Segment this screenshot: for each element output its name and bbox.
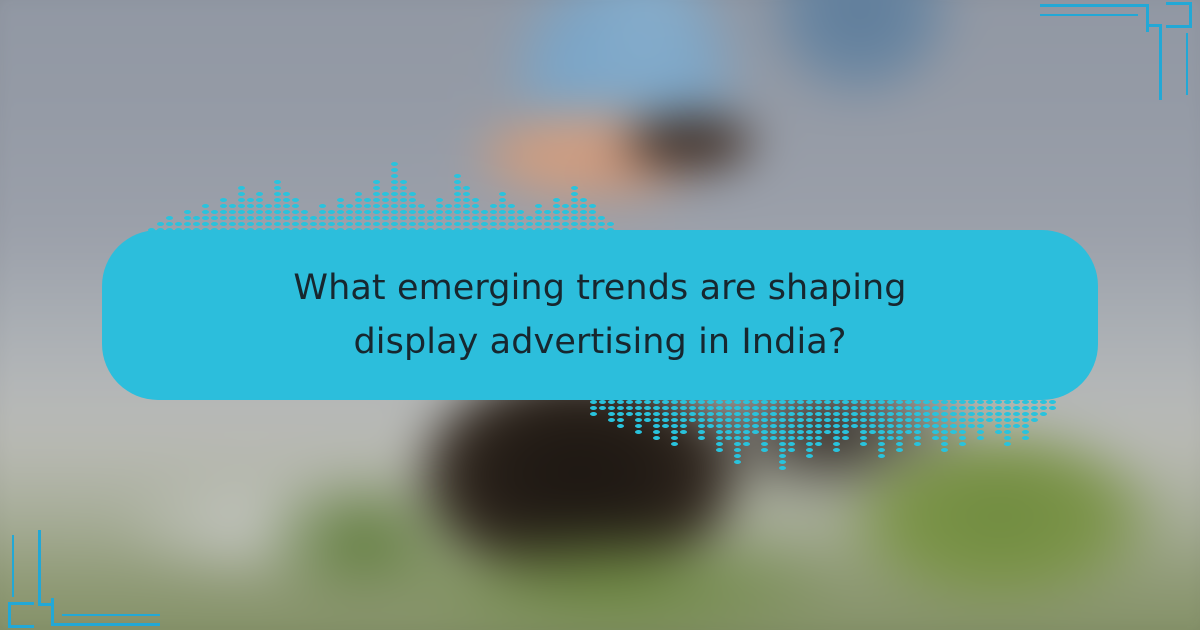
waveform-dot: [463, 210, 470, 214]
waveform-dot: [986, 400, 993, 404]
waveform-dot: [815, 406, 822, 410]
question-bubble: What emerging trends are shaping display…: [102, 230, 1098, 400]
waveform-dot: [815, 430, 822, 434]
waveform-dot: [779, 460, 786, 464]
waveform-dot: [1031, 418, 1038, 422]
waveform-dot: [355, 192, 362, 196]
waveform-dot: [851, 412, 858, 416]
waveform-dot: [986, 406, 993, 410]
waveform-dot: [445, 210, 452, 214]
waveform-dot: [238, 192, 245, 196]
waveform-dot: [833, 448, 840, 452]
corner-line-v-thin: [12, 535, 14, 597]
waveform-dot: [292, 210, 299, 214]
waveform-dot: [779, 400, 786, 404]
waveform-dot: [391, 180, 398, 184]
waveform-dot: [544, 222, 551, 226]
waveform-dot: [797, 430, 804, 434]
waveform-dot: [211, 222, 218, 226]
waveform-dot: [959, 418, 966, 422]
waveform-dot: [517, 216, 524, 220]
waveform-dot: [238, 198, 245, 202]
waveform-dot: [418, 216, 425, 220]
waveform-dot: [256, 210, 263, 214]
waveform-dot: [761, 430, 768, 434]
waveform-dot: [472, 222, 479, 226]
waveform-dot: [274, 216, 281, 220]
waveform-dot: [671, 424, 678, 428]
waveform-dot: [562, 210, 569, 214]
waveform-dot: [508, 204, 515, 208]
waveform-dot: [644, 412, 651, 416]
waveform-dot: [490, 216, 497, 220]
waveform-dot: [788, 400, 795, 404]
waveform-dot: [310, 222, 317, 226]
waveform-dot: [950, 418, 957, 422]
waveform-dot: [274, 198, 281, 202]
waveform-dot: [391, 192, 398, 196]
waveform-dot: [959, 412, 966, 416]
waveform-dot: [337, 222, 344, 226]
waveform-dot: [671, 430, 678, 434]
background-grass-bottom: [340, 500, 900, 630]
waveform-dot: [905, 418, 912, 422]
waveform-dot: [968, 424, 975, 428]
waveform-dot: [896, 406, 903, 410]
waveform-dot: [716, 400, 723, 404]
waveform-dot: [941, 412, 948, 416]
waveform-dot: [662, 412, 669, 416]
corner-square-top: [8, 602, 34, 605]
waveform-dot: [445, 204, 452, 208]
waveform-dot: [571, 186, 578, 190]
waveform-dot: [977, 406, 984, 410]
waveform-dot: [716, 418, 723, 422]
waveform-dot: [436, 210, 443, 214]
waveform-dot: [770, 436, 777, 440]
waveform-dot: [229, 222, 236, 226]
corner-line-h-outer: [1040, 4, 1146, 7]
waveform-dot: [860, 418, 867, 422]
waveform-dot: [788, 430, 795, 434]
waveform-dot: [553, 198, 560, 202]
waveform-dot: [761, 424, 768, 428]
waveform-dot: [653, 430, 660, 434]
waveform-dot: [391, 210, 398, 214]
waveform-dot: [1022, 412, 1029, 416]
waveform-dot: [436, 222, 443, 226]
waveform-dot: [941, 436, 948, 440]
waveform-dot: [355, 222, 362, 226]
waveform-dot: [698, 406, 705, 410]
background-jeans-shape: [760, 0, 1010, 130]
waveform-dot: [409, 210, 416, 214]
waveform-dot: [725, 424, 732, 428]
waveform-dot: [274, 186, 281, 190]
waveform-dot: [193, 222, 200, 226]
waveform-dot: [571, 216, 578, 220]
waveform-dot: [842, 418, 849, 422]
waveform-dot: [725, 412, 732, 416]
waveform-dot: [589, 222, 596, 226]
waveform-dot: [337, 216, 344, 220]
waveform-dot: [698, 436, 705, 440]
waveform-dot: [463, 216, 470, 220]
question-text: What emerging trends are shaping display…: [230, 261, 970, 370]
waveform-dot: [580, 204, 587, 208]
waveform-dot: [373, 222, 380, 226]
waveform-top: [148, 160, 618, 232]
waveform-dot: [716, 436, 723, 440]
waveform-dot: [409, 216, 416, 220]
waveform-dot: [662, 400, 669, 404]
waveform-dot: [463, 186, 470, 190]
waveform-dot: [373, 180, 380, 184]
waveform-dot: [896, 418, 903, 422]
waveform-dot: [635, 400, 642, 404]
waveform-dot: [806, 436, 813, 440]
waveform-dot: [382, 222, 389, 226]
waveform-dot: [499, 192, 506, 196]
waveform-dot: [698, 430, 705, 434]
waveform-dot: [617, 418, 624, 422]
waveform-dot: [571, 192, 578, 196]
waveform-dot: [184, 216, 191, 220]
waveform-dot: [725, 436, 732, 440]
waveform-dot: [283, 216, 290, 220]
waveform-dot: [806, 406, 813, 410]
waveform-dot: [544, 216, 551, 220]
waveform-dot: [544, 210, 551, 214]
waveform-dot: [833, 436, 840, 440]
waveform-dot: [635, 406, 642, 410]
waveform-dot: [400, 198, 407, 202]
waveform-dot: [770, 400, 777, 404]
waveform-dot: [968, 400, 975, 404]
waveform-dot: [1031, 412, 1038, 416]
waveform-dot: [878, 412, 885, 416]
waveform-dot: [256, 222, 263, 226]
waveform-dot: [608, 406, 615, 410]
waveform-dot: [391, 186, 398, 190]
waveform-dot: [562, 204, 569, 208]
waveform-dot: [644, 400, 651, 404]
waveform-dot: [391, 174, 398, 178]
waveform-dot: [770, 406, 777, 410]
waveform-dot: [923, 406, 930, 410]
waveform-dot: [860, 424, 867, 428]
waveform-dot: [283, 204, 290, 208]
waveform-dot: [977, 436, 984, 440]
waveform-dot: [310, 216, 317, 220]
waveform-dot: [959, 406, 966, 410]
waveform-dot: [472, 198, 479, 202]
waveform-dot: [878, 424, 885, 428]
waveform-dot: [653, 418, 660, 422]
waveform-dot: [1013, 400, 1020, 404]
waveform-dot: [256, 198, 263, 202]
waveform-dot: [418, 210, 425, 214]
waveform-dot: [878, 400, 885, 404]
waveform-dot: [373, 198, 380, 202]
waveform-dot: [887, 436, 894, 440]
waveform-dot: [878, 406, 885, 410]
waveform-dot: [617, 400, 624, 404]
waveform-dot: [779, 448, 786, 452]
waveform-dot: [626, 406, 633, 410]
waveform-dot: [184, 222, 191, 226]
waveform-dot: [580, 198, 587, 202]
waveform-dot: [932, 424, 939, 428]
waveform-dot: [788, 406, 795, 410]
corner-line-v-outer: [1146, 4, 1149, 32]
waveform-dot: [571, 198, 578, 202]
waveform-dot: [1013, 424, 1020, 428]
waveform-dot: [193, 216, 200, 220]
waveform-dot: [779, 430, 786, 434]
waveform-dot: [752, 406, 759, 410]
waveform-dot: [797, 406, 804, 410]
waveform-dot: [761, 442, 768, 446]
waveform-dot: [653, 412, 660, 416]
waveform-dot: [1049, 400, 1056, 404]
waveform-dot: [202, 210, 209, 214]
waveform-dot: [833, 424, 840, 428]
waveform-dot: [599, 400, 606, 404]
waveform-dot: [752, 424, 759, 428]
waveform-dot: [283, 222, 290, 226]
waveform-dot: [806, 424, 813, 428]
waveform-dot: [743, 442, 750, 446]
corner-line-v-long: [1159, 24, 1162, 100]
waveform-dot: [184, 210, 191, 214]
waveform-dot: [355, 204, 362, 208]
waveform-dot: [626, 400, 633, 404]
waveform-dot: [617, 412, 624, 416]
waveform-dot: [734, 424, 741, 428]
waveform-dot: [770, 412, 777, 416]
waveform-dot: [562, 216, 569, 220]
waveform-dot: [454, 216, 461, 220]
waveform-dot: [337, 204, 344, 208]
waveform-dot: [968, 418, 975, 422]
waveform-dot: [472, 210, 479, 214]
waveform-dot: [977, 400, 984, 404]
waveform-dot: [472, 204, 479, 208]
waveform-dot: [490, 204, 497, 208]
waveform-dot: [247, 198, 254, 202]
corner-square-bottom: [1166, 25, 1192, 28]
waveform-dot: [671, 412, 678, 416]
waveform-dot: [716, 430, 723, 434]
waveform-dot: [662, 418, 669, 422]
waveform-dot: [680, 430, 687, 434]
waveform-dot: [716, 424, 723, 428]
waveform-dot: [283, 210, 290, 214]
waveform-dot: [1022, 424, 1029, 428]
waveform-dot: [553, 216, 560, 220]
waveform-dot: [797, 436, 804, 440]
corner-line-h-inner: [1040, 14, 1138, 16]
waveform-dot: [932, 406, 939, 410]
waveform-dot: [373, 186, 380, 190]
waveform-dot: [283, 198, 290, 202]
waveform-dot: [905, 424, 912, 428]
waveform-dot: [328, 222, 335, 226]
waveform-dot: [752, 418, 759, 422]
waveform-dot: [914, 418, 921, 422]
waveform-dot: [734, 430, 741, 434]
waveform-dot: [914, 412, 921, 416]
waveform-dot: [959, 424, 966, 428]
waveform-dot: [166, 216, 173, 220]
waveform-dot: [707, 406, 714, 410]
waveform-dot: [1004, 406, 1011, 410]
waveform-dot: [977, 418, 984, 422]
waveform-dot: [905, 412, 912, 416]
waveform-dot: [995, 406, 1002, 410]
waveform-dot: [436, 198, 443, 202]
waveform-dot: [995, 424, 1002, 428]
waveform-dot: [689, 412, 696, 416]
waveform-dot: [274, 210, 281, 214]
waveform-dot: [923, 412, 930, 416]
waveform-dot: [589, 210, 596, 214]
waveform-dot: [508, 216, 515, 220]
waveform-dot: [346, 222, 353, 226]
waveform-dot: [824, 430, 831, 434]
waveform-dot: [1022, 406, 1029, 410]
waveform-dot: [499, 216, 506, 220]
waveform-dot: [896, 412, 903, 416]
waveform-dot: [373, 210, 380, 214]
waveform-dot: [644, 406, 651, 410]
waveform-dot: [481, 222, 488, 226]
waveform-dot: [824, 400, 831, 404]
waveform-dot: [896, 442, 903, 446]
waveform-dot: [743, 400, 750, 404]
waveform-dot: [680, 406, 687, 410]
waveform-dot: [409, 204, 416, 208]
waveform-dot: [328, 210, 335, 214]
waveform-dot: [346, 216, 353, 220]
waveform-dot: [968, 406, 975, 410]
waveform-dot: [220, 210, 227, 214]
waveform-dot: [806, 430, 813, 434]
waveform-dot: [959, 436, 966, 440]
waveform-dot: [797, 424, 804, 428]
waveform-dot: [734, 448, 741, 452]
waveform-dot: [653, 436, 660, 440]
waveform-dot: [662, 406, 669, 410]
waveform-dot: [526, 216, 533, 220]
waveform-dot: [598, 216, 605, 220]
waveform-dot: [779, 418, 786, 422]
waveform-dot: [860, 412, 867, 416]
waveform-dot: [373, 192, 380, 196]
waveform-dot: [950, 424, 957, 428]
waveform-dot: [454, 180, 461, 184]
waveform-dot: [463, 198, 470, 202]
waveform-dot: [319, 204, 326, 208]
waveform-dot: [283, 192, 290, 196]
corner-line-v-thin: [1186, 33, 1188, 95]
waveform-dot: [175, 222, 182, 226]
waveform-dot: [905, 430, 912, 434]
waveform-dot: [211, 210, 218, 214]
waveform-dot: [878, 442, 885, 446]
waveform-dot: [743, 412, 750, 416]
waveform-dot: [355, 198, 362, 202]
waveform-dot: [734, 436, 741, 440]
waveform-dot: [680, 400, 687, 404]
waveform-dot: [986, 418, 993, 422]
waveform-dot: [779, 442, 786, 446]
waveform-dot: [589, 204, 596, 208]
waveform-dot: [526, 222, 533, 226]
waveform-dot: [941, 400, 948, 404]
waveform-dot: [878, 430, 885, 434]
waveform-dot: [833, 400, 840, 404]
waveform-dot: [887, 412, 894, 416]
waveform-dot: [562, 222, 569, 226]
waveform-dot: [220, 216, 227, 220]
waveform-dot: [860, 436, 867, 440]
waveform-dot: [328, 216, 335, 220]
waveform-dot: [896, 436, 903, 440]
waveform-dot: [553, 222, 560, 226]
waveform-dot: [716, 412, 723, 416]
waveform-dot: [743, 406, 750, 410]
waveform-dot: [716, 406, 723, 410]
waveform-dot: [743, 436, 750, 440]
waveform-dot: [977, 412, 984, 416]
waveform-dot: [608, 418, 615, 422]
waveform-dot: [779, 454, 786, 458]
waveform-dot: [914, 436, 921, 440]
waveform-dot: [896, 430, 903, 434]
waveform-dot: [914, 406, 921, 410]
waveform-dot: [869, 412, 876, 416]
waveform-dot: [860, 406, 867, 410]
waveform-dot: [400, 210, 407, 214]
waveform-dot: [707, 412, 714, 416]
waveform-dot: [409, 198, 416, 202]
waveform-dot: [815, 442, 822, 446]
waveform-dot: [418, 222, 425, 226]
waveform-dot: [842, 406, 849, 410]
waveform-dot: [274, 180, 281, 184]
waveform-dot: [1013, 406, 1020, 410]
waveform-dot: [499, 222, 506, 226]
waveform-dot: [851, 424, 858, 428]
waveform-dot: [1031, 400, 1038, 404]
waveform-dot: [364, 216, 371, 220]
waveform-dot: [797, 418, 804, 422]
waveform-dot: [680, 418, 687, 422]
waveform-dot: [725, 430, 732, 434]
waveform-dot: [806, 448, 813, 452]
waveform-dot: [671, 418, 678, 422]
waveform-dot: [725, 418, 732, 422]
waveform-dot: [454, 186, 461, 190]
waveform-dot: [941, 448, 948, 452]
corner-decoration-bottom-left: [0, 510, 160, 630]
waveform-dot: [896, 400, 903, 404]
waveform-dot: [617, 424, 624, 428]
waveform-dot: [761, 406, 768, 410]
waveform-dot: [445, 222, 452, 226]
